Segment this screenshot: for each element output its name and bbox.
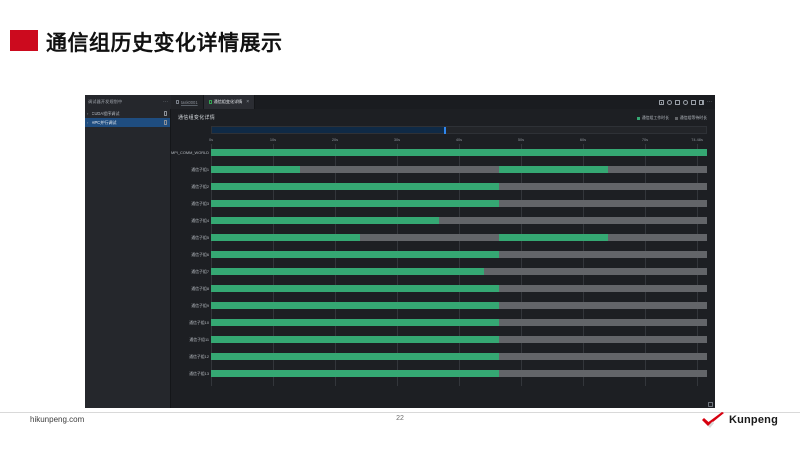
gantt-row-label: 通信子组7 xyxy=(171,263,209,280)
gantt-segment-work[interactable] xyxy=(211,200,499,207)
gantt-bar[interactable] xyxy=(211,234,707,241)
legend-label: 通信组工作时长 xyxy=(642,115,669,121)
gantt-bar[interactable] xyxy=(211,200,707,207)
more-icon[interactable]: ··· xyxy=(707,100,712,105)
panel-header: 通信组变化详情 通信组工作时长 通信组等待时长 xyxy=(171,109,715,126)
axis-tick-label: 10s xyxy=(270,137,276,142)
gantt-segment-wait[interactable] xyxy=(499,319,707,326)
gantt-row[interactable]: 通信子组1 xyxy=(211,161,707,178)
axis-tick-label: 50s xyxy=(518,137,524,142)
gantt-segment-work[interactable] xyxy=(211,302,499,309)
split-view-icon[interactable] xyxy=(699,100,704,105)
sidebar-item-label: HPC并行调试 xyxy=(92,120,163,126)
gantt-bar[interactable] xyxy=(211,183,707,190)
layout-icon[interactable] xyxy=(659,100,664,105)
panel-title: 通信组变化详情 xyxy=(178,114,215,121)
gantt-row[interactable]: 通信子组11 xyxy=(211,331,707,348)
brand-name: Kunpeng xyxy=(729,414,778,426)
gantt-segment-work[interactable] xyxy=(211,217,439,224)
tab-label: 通信组变化详情 xyxy=(214,99,243,105)
kunpeng-check-icon xyxy=(701,412,725,428)
gantt-row[interactable]: 通信子组2 xyxy=(211,178,707,195)
gantt-row-label: MPI_COMM_WORLD xyxy=(171,144,209,161)
gantt-segment-wait[interactable] xyxy=(300,166,498,173)
gantt-segment-wait[interactable] xyxy=(608,234,707,241)
gantt-row-label: 通信子组3 xyxy=(171,195,209,212)
axis-tick-label: 60s xyxy=(580,137,586,142)
gantt-bar[interactable] xyxy=(211,353,707,360)
slide-header: 通信组历史变化详情展示 xyxy=(0,0,800,78)
gantt-segment-work[interactable] xyxy=(211,370,499,377)
gantt-row[interactable]: 通信子组7 xyxy=(211,263,707,280)
gantt-segment-work[interactable] xyxy=(211,336,499,343)
gantt-bar[interactable] xyxy=(211,370,707,377)
gantt-row[interactable]: 通信子组6 xyxy=(211,246,707,263)
sidebar-item-cuda-debug[interactable]: › CUDA程序调试 xyxy=(85,109,170,118)
file-icon xyxy=(164,120,167,124)
gantt-segment-wait[interactable] xyxy=(484,268,707,275)
axis-tick-label: 70s xyxy=(642,137,648,142)
sidebar-item-label: CUDA程序调试 xyxy=(92,111,163,117)
time-axis: 0s10s20s30s40s50s60s70s74.48s xyxy=(211,135,707,144)
gantt-row-label: 通信子组8 xyxy=(171,280,209,297)
gantt-row[interactable]: 通信子组10 xyxy=(211,314,707,331)
legend-item-work[interactable]: 通信组工作时长 xyxy=(637,115,669,121)
title-accent-marker xyxy=(10,30,38,51)
axis-tick-label: 20s xyxy=(332,137,338,142)
gantt-segment-wait[interactable] xyxy=(439,217,707,224)
save-icon[interactable] xyxy=(675,100,680,105)
axis-tick-label: 74.48s xyxy=(691,137,703,142)
gantt-segment-wait[interactable] xyxy=(499,302,707,309)
footer-divider xyxy=(0,412,800,413)
page-title: 通信组历史变化详情展示 xyxy=(46,27,283,57)
brand-logo: Kunpeng xyxy=(701,412,778,428)
gantt-segment-wait[interactable] xyxy=(499,353,707,360)
gantt-bar[interactable] xyxy=(211,268,707,275)
gantt-segment-work[interactable] xyxy=(211,183,499,190)
editor-tab-strip: task0001 通信组变化详情 × xyxy=(171,95,715,109)
gantt-bar[interactable] xyxy=(211,251,707,258)
gantt-row[interactable]: 通信子组5 xyxy=(211,229,707,246)
search-icon[interactable] xyxy=(683,100,688,105)
gantt-segment-wait[interactable] xyxy=(608,166,707,173)
file-icon xyxy=(164,111,167,115)
tab-label: task0001 xyxy=(181,100,198,105)
file-icon xyxy=(209,100,212,104)
legend-item-wait[interactable]: 通信组等待时长 xyxy=(675,115,707,121)
legend-swatch-work xyxy=(637,117,640,120)
gantt-row-label: 通信子组1 xyxy=(171,161,209,178)
chart-legend: 通信组工作时长 通信组等待时长 xyxy=(637,115,707,121)
gantt-segment-wait[interactable] xyxy=(499,200,707,207)
ide-toolbar: ··· xyxy=(659,95,712,109)
gantt-bar[interactable] xyxy=(211,302,707,309)
gantt-segment-work[interactable] xyxy=(211,234,360,241)
gantt-bar[interactable] xyxy=(211,217,707,224)
debug-icon[interactable] xyxy=(691,100,696,105)
explorer-header: 调试器开发规划中 ··· xyxy=(85,95,171,109)
resize-handle-icon[interactable] xyxy=(708,402,713,407)
gantt-segment-work[interactable] xyxy=(211,166,300,173)
chevron-right-icon: › xyxy=(87,112,90,116)
gantt-segment-wait[interactable] xyxy=(499,183,707,190)
gantt-segment-work[interactable] xyxy=(211,319,499,326)
gantt-bar[interactable] xyxy=(211,285,707,292)
gantt-segment-work[interactable] xyxy=(499,166,608,173)
explorer-title: 调试器开发规划中 xyxy=(88,99,122,105)
gantt-segment-work[interactable] xyxy=(211,149,707,156)
gantt-row[interactable]: 通信子组4 xyxy=(211,212,707,229)
gantt-segment-work[interactable] xyxy=(211,251,499,258)
more-options-icon[interactable]: ··· xyxy=(163,100,168,105)
gantt-row-label: 通信子组12 xyxy=(171,348,209,365)
gantt-row-label: 通信子组4 xyxy=(171,212,209,229)
gantt-row[interactable]: 通信子组12 xyxy=(211,348,707,365)
tab-comm-group-detail[interactable]: 通信组变化详情 × xyxy=(204,95,256,109)
gantt-segment-wait[interactable] xyxy=(360,234,499,241)
gantt-row-label: 通信子组6 xyxy=(171,246,209,263)
sidebar-item-hpc-debug[interactable]: › HPC并行调试 xyxy=(85,118,170,127)
editor-pane: 通信组变化详情 通信组工作时长 通信组等待时长 0s10s20s30s40s50… xyxy=(171,109,715,408)
gantt-row[interactable]: MPI_COMM_WORLD xyxy=(211,144,707,161)
gantt-row[interactable]: 通信子组9 xyxy=(211,297,707,314)
legend-label: 通信组等待时长 xyxy=(680,115,707,121)
gantt-segment-work[interactable] xyxy=(211,268,484,275)
gantt-chart: MPI_COMM_WORLD通信子组1通信子组2通信子组3通信子组4通信子组5通… xyxy=(171,144,707,386)
legend-swatch-wait xyxy=(675,117,678,120)
gantt-row-label: 通信子组9 xyxy=(171,297,209,314)
gantt-bar[interactable] xyxy=(211,319,707,326)
gear-icon[interactable] xyxy=(667,100,672,105)
axis-tick-label: 30s xyxy=(394,137,400,142)
axis-tick-label: 0s xyxy=(209,137,213,142)
gantt-segment-wait[interactable] xyxy=(499,336,707,343)
gantt-row-label: 通信子组11 xyxy=(171,331,209,348)
gantt-row-label: 通信子组5 xyxy=(171,229,209,246)
gantt-segment-work[interactable] xyxy=(499,234,608,241)
gantt-row[interactable]: 通信子组3 xyxy=(211,195,707,212)
gantt-segment-wait[interactable] xyxy=(499,251,707,258)
gantt-bar[interactable] xyxy=(211,149,707,156)
gantt-row-label: 通信子组10 xyxy=(171,314,209,331)
gantt-segment-wait[interactable] xyxy=(499,370,707,377)
gantt-bar[interactable] xyxy=(211,336,707,343)
gantt-row[interactable]: 通信子组13 xyxy=(211,365,707,382)
footer-page-number: 22 xyxy=(0,415,800,422)
ide-top-bar: 调试器开发规划中 ··· task0001 通信组变化详情 × ··· xyxy=(85,95,715,109)
gantt-segment-wait[interactable] xyxy=(499,285,707,292)
gantt-row-label: 通信子组13 xyxy=(171,365,209,382)
axis-tick-label: 40s xyxy=(456,137,462,142)
gantt-row-label: 通信子组2 xyxy=(171,178,209,195)
gantt-bar[interactable] xyxy=(211,166,707,173)
gantt-row[interactable]: 通信子组8 xyxy=(211,280,707,297)
range-handle[interactable] xyxy=(444,127,446,134)
timeline-range-scrollbar[interactable] xyxy=(211,126,707,134)
chevron-right-icon: › xyxy=(87,121,90,125)
gantt-segment-work[interactable] xyxy=(211,353,499,360)
gantt-segment-work[interactable] xyxy=(211,285,499,292)
close-icon[interactable]: × xyxy=(246,100,249,105)
range-fill xyxy=(212,127,444,133)
file-icon xyxy=(176,100,179,104)
explorer-sidebar: › CUDA程序调试 › HPC并行调试 xyxy=(85,109,171,408)
tab-task0001[interactable]: task0001 xyxy=(171,95,204,109)
ide-window: 调试器开发规划中 ··· task0001 通信组变化详情 × ··· xyxy=(85,95,715,408)
ide-body: › CUDA程序调试 › HPC并行调试 通信组变化详情 通信组工作时长 xyxy=(85,109,715,408)
